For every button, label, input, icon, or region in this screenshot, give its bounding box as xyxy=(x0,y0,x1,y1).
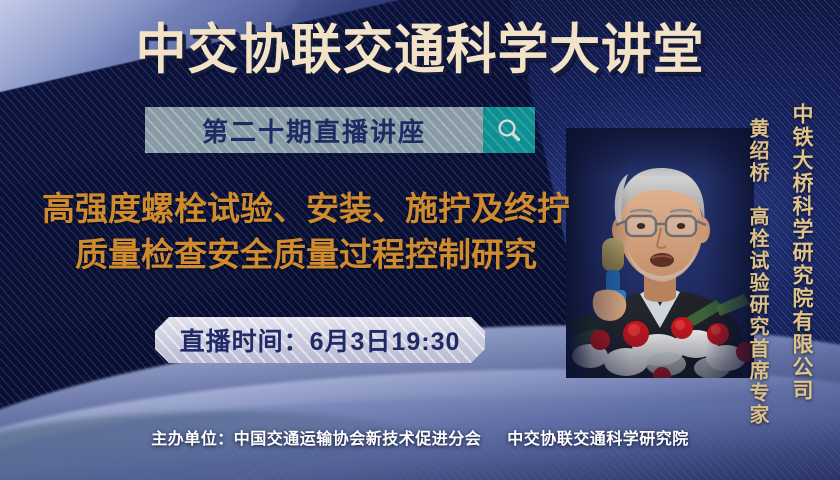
lecture-topic-line2: 质量检查安全质量过程控制研究 xyxy=(8,232,604,278)
lecture-topic: 高强度螺栓试验、安装、施拧及终拧 质量检查安全质量过程控制研究 xyxy=(8,186,604,278)
footer-hosts: 主办单位：中国交通运输协会新技术促进分会中交协联交通科学研究院 xyxy=(0,425,840,449)
episode-bar-body: 第二十期直播讲座 xyxy=(145,107,483,153)
search-icon xyxy=(496,117,522,143)
page-title: 中交协联交通科学大讲堂 xyxy=(25,20,815,80)
footer-host-1: 中国交通运输协会新技术促进分会 xyxy=(234,425,482,449)
live-time-text: 直播时间：6月3日19:30 xyxy=(180,322,461,358)
search-button[interactable] xyxy=(483,107,535,153)
speaker-organization: 中铁大桥科学研究院有限公司 xyxy=(786,103,816,402)
live-time-banner: 直播时间：6月3日19:30 xyxy=(155,317,485,363)
lecture-topic-line1: 高强度螺栓试验、安装、施拧及终拧 xyxy=(8,186,604,232)
footer-host-2: 中交协联交通科学研究院 xyxy=(507,425,689,449)
episode-bar: 第二十期直播讲座 xyxy=(145,107,535,153)
speaker-name-title: 黄绍桥 高栓试验研究首席专家 xyxy=(743,118,772,426)
footer-prefix: 主办单位： xyxy=(151,425,234,449)
live-lecture-poster: 中交协联交通科学大讲堂 第二十期直播讲座 高强度螺栓试验、安装、施拧及终拧 质量… xyxy=(0,0,840,480)
episode-label: 第二十期直播讲座 xyxy=(202,112,426,149)
